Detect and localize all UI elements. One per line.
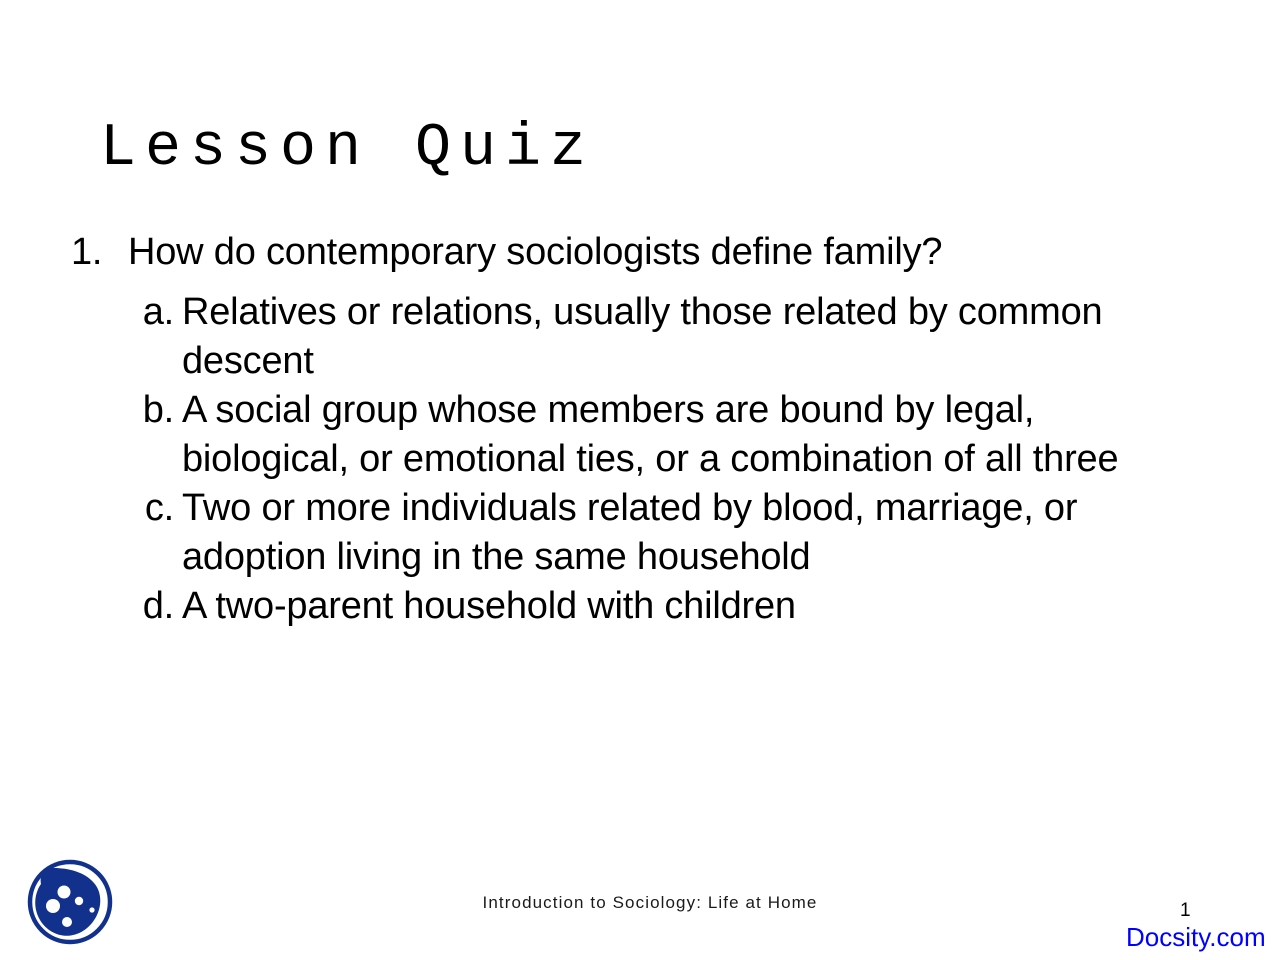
option-marker-a: a. xyxy=(60,288,174,337)
docsity-watermark[interactable]: Docsity.com xyxy=(1126,922,1266,952)
option-text-a: Relatives or relations, usually those re… xyxy=(174,288,1192,386)
option-row-b[interactable]: b. A social group whose members are boun… xyxy=(60,386,1200,484)
option-text-b: A social group whose members are bound b… xyxy=(174,386,1192,484)
option-text-d: A two-parent household with children xyxy=(174,582,1192,631)
option-text-c: Two or more individuals related by blood… xyxy=(174,484,1192,582)
option-marker-b: b. xyxy=(60,386,174,435)
question-row: 1. How do contemporary sociologists defi… xyxy=(60,228,1200,277)
question-number: 1. xyxy=(60,228,128,277)
quiz-content: 1. How do contemporary sociologists defi… xyxy=(60,228,1200,631)
option-row-d[interactable]: d. A two-parent household with children xyxy=(60,582,1200,631)
option-row-c[interactable]: c. Two or more individuals related by bl… xyxy=(60,484,1200,582)
page-title: Lesson Quiz xyxy=(100,118,595,181)
question-block: 1. How do contemporary sociologists defi… xyxy=(60,228,1200,631)
options-list: a. Relatives or relations, usually those… xyxy=(60,288,1200,631)
option-marker-c: c. xyxy=(60,484,174,533)
page-number: 1 xyxy=(1180,900,1191,922)
footer-caption: Introduction to Sociology: Life at Home xyxy=(400,890,900,916)
option-marker-d: d. xyxy=(60,582,174,631)
slide-canvas: Lesson Quiz 1. How do contemporary socio… xyxy=(0,0,1280,960)
docsity-logo-icon xyxy=(20,852,120,952)
option-row-a[interactable]: a. Relatives or relations, usually those… xyxy=(60,288,1200,386)
question-text: How do contemporary sociologists define … xyxy=(128,228,1200,277)
